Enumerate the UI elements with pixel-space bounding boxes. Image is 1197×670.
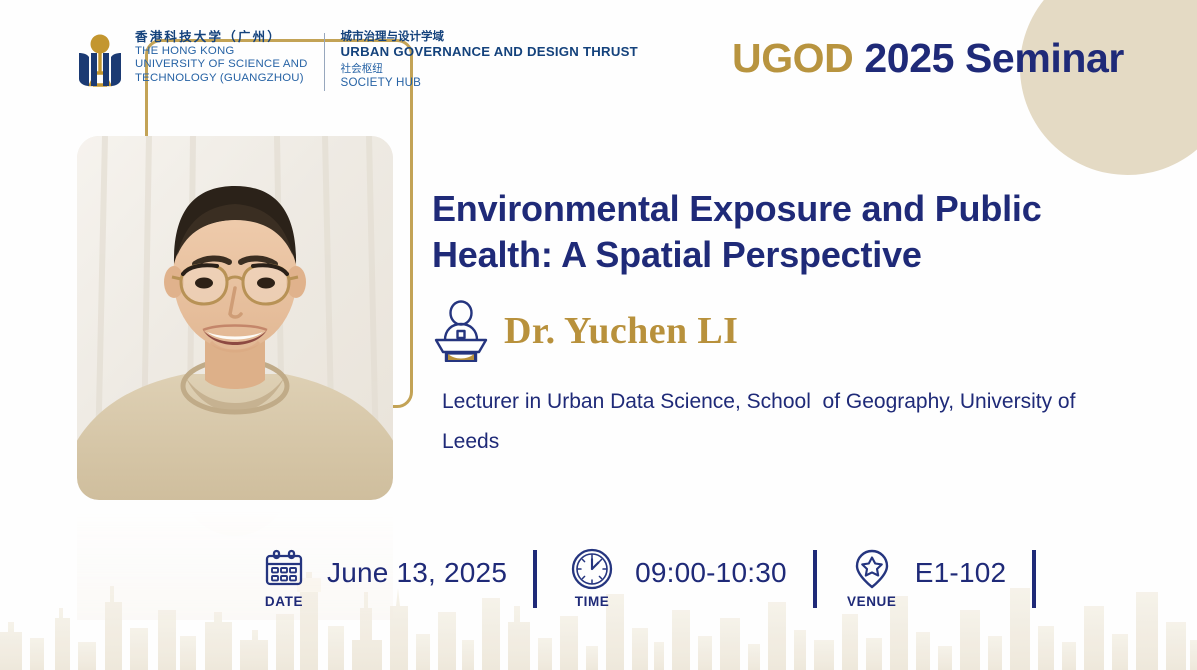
date-label: DATE (265, 594, 303, 609)
clock-icon (571, 548, 613, 590)
hkust-name-block: 香港科技大学（广州） THE HONG KONG UNIVERSITY OF S… (135, 30, 308, 85)
speaker-row: Dr. Yuchen LI (432, 300, 1137, 362)
podium-speaker-icon (432, 300, 490, 362)
event-date-item: DATE June 13, 2025 (255, 546, 507, 618)
thrust-name-block: 城市治理与设计学域 URBAN GOVERNANCE AND DESIGN TH… (341, 30, 638, 91)
speaker-name: Dr. Yuchen LI (504, 309, 738, 353)
seminar-brand: UGOD (732, 35, 853, 81)
logo-divider (324, 33, 325, 91)
institution-logos: 香港科技大学（广州） THE HONG KONG UNIVERSITY OF S… (76, 30, 638, 91)
info-separator-1 (533, 550, 537, 608)
time-icon-col: TIME (563, 546, 621, 609)
speaker-affiliation: Lecturer in Urban Data Science, School o… (442, 382, 1122, 462)
time-value: 09:00-10:30 (635, 557, 787, 589)
hkust-goblet-logo (76, 33, 124, 91)
hkust-name-en-2: UNIVERSITY OF SCIENCE AND (135, 58, 308, 71)
hkust-name-en-1: THE HONG KONG (135, 45, 308, 58)
hkust-name-en-3: TECHNOLOGY (GUANGZHOU) (135, 72, 308, 85)
venue-label: VENUE (847, 594, 897, 609)
poster-header: 香港科技大学（广州） THE HONG KONG UNIVERSITY OF S… (0, 0, 1197, 120)
seminar-series-title: UGOD 2025 Seminar (732, 35, 1124, 82)
thrust-name-en: URBAN GOVERNANCE AND DESIGN THRUST (341, 44, 638, 61)
map-pin-icon (851, 548, 893, 590)
event-venue-item: VENUE E1-102 (843, 546, 1007, 618)
seminar-year-label: 2025 Seminar (864, 35, 1124, 81)
event-info-bar: DATE June 13, 2025 (0, 546, 1197, 618)
calendar-icon (263, 548, 305, 590)
hkust-name-cn: 香港科技大学（广州） (135, 30, 308, 45)
venue-value: E1-102 (915, 557, 1007, 589)
date-value: June 13, 2025 (327, 557, 507, 589)
event-time-item: TIME 09:00-10:30 (563, 546, 787, 618)
speaker-photo-container (77, 136, 393, 500)
seminar-poster: 香港科技大学（广州） THE HONG KONG UNIVERSITY OF S… (0, 0, 1197, 670)
date-icon-col: DATE (255, 546, 313, 609)
talk-title: Environmental Exposure and Public Health… (432, 186, 1137, 278)
speaker-photo (77, 136, 393, 500)
speaker-portrait-image (77, 136, 393, 500)
info-separator-3 (1032, 550, 1036, 608)
hub-name-cn: 社会枢纽 (341, 63, 638, 76)
info-separator-2 (813, 550, 817, 608)
time-label: TIME (575, 594, 610, 609)
talk-details: Environmental Exposure and Public Health… (432, 186, 1137, 462)
hub-name-en: SOCIETY HUB (341, 76, 638, 90)
thrust-name-cn: 城市治理与设计学域 (341, 30, 638, 44)
venue-icon-col: VENUE (843, 546, 901, 609)
